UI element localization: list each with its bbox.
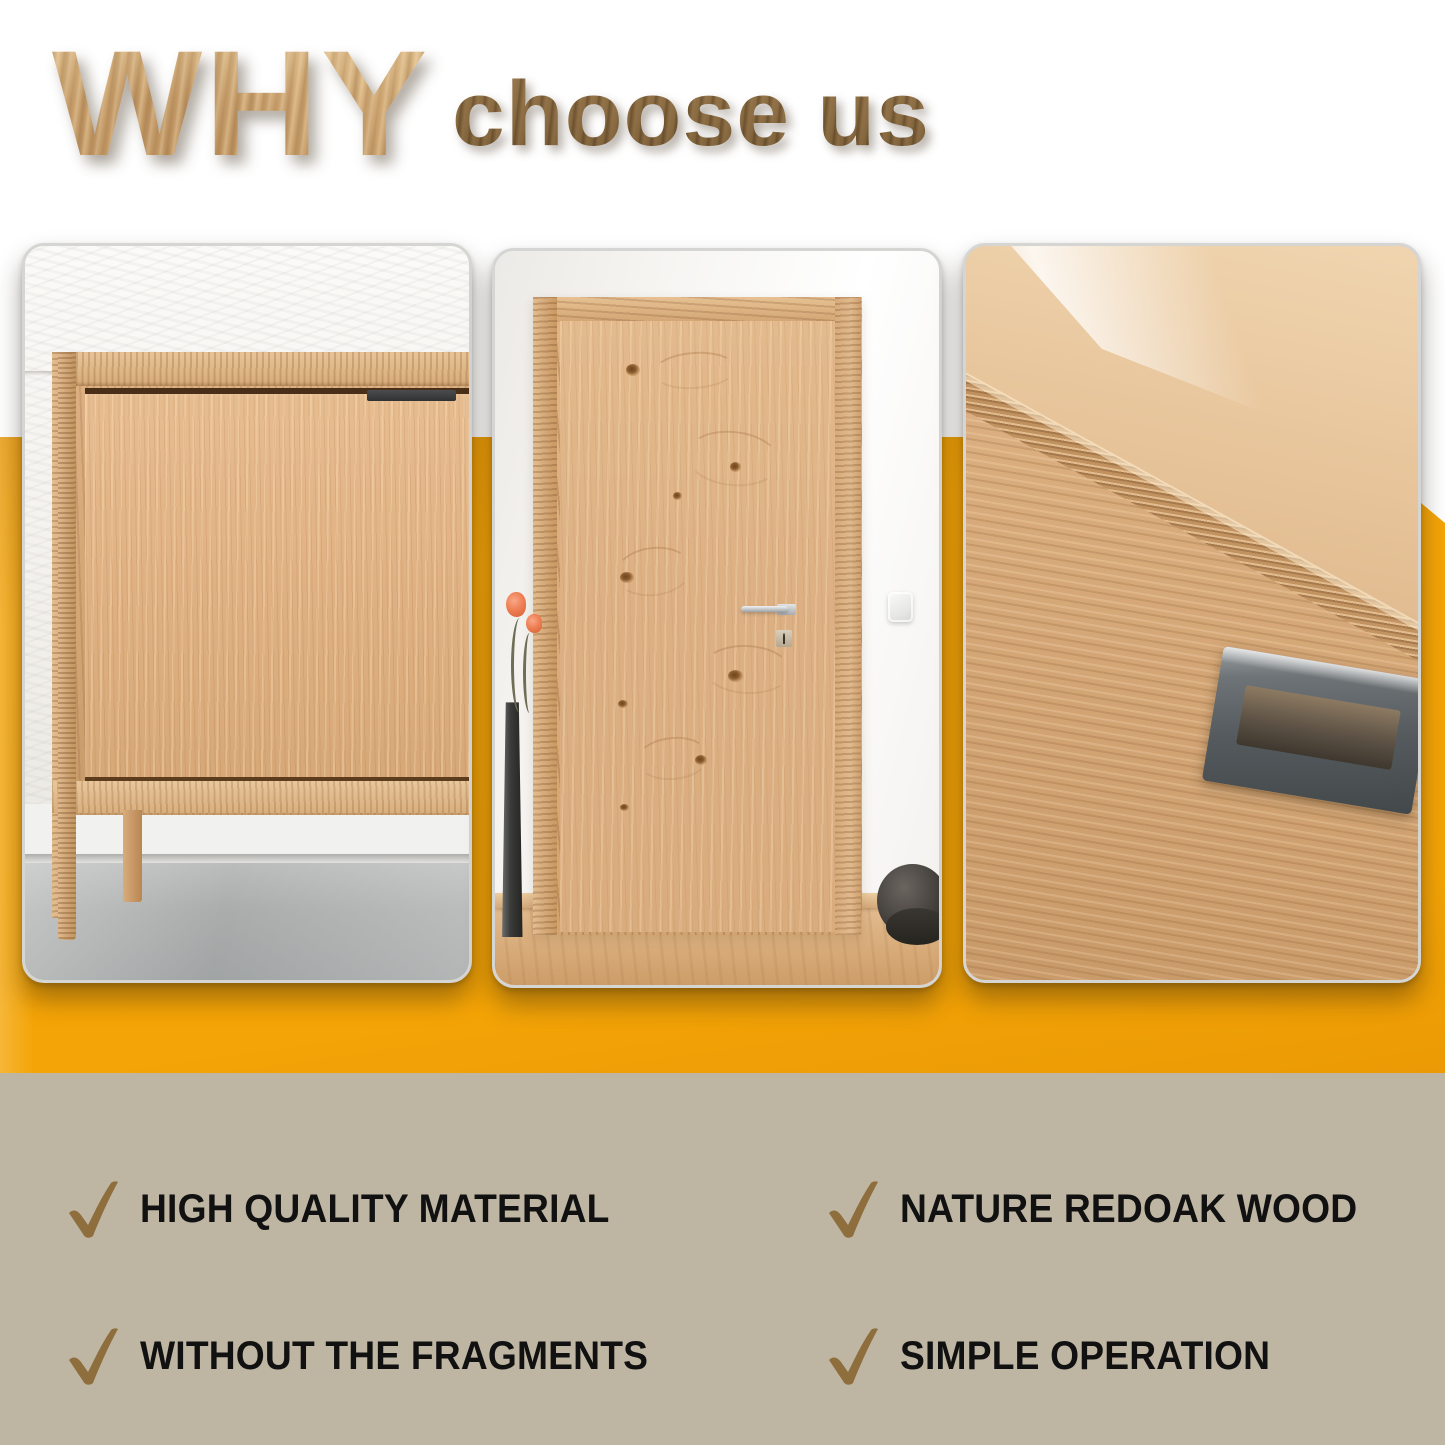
feature-list: HIGH QUALITY MATERIAL NATURE REDOAK WOOD… [0,1073,1445,1445]
light-switch [888,592,913,623]
oak-sideboard-photo [25,246,469,980]
door-casing-head [533,297,862,323]
door-lever-handle [741,606,788,613]
why-choose-us-poster: WHY choose us [0,0,1445,1445]
wood-knot [618,700,628,708]
door-leaf [560,321,835,932]
gallery-card-oak-edge-closeup[interactable] [963,243,1421,983]
feature-item-nature-redoak-wood: NATURE REDOAK WOOD [826,1178,1392,1240]
door-keyhole-escutcheon [776,630,792,648]
gallery-card-oak-door[interactable] [492,248,942,988]
poppy-flower [526,614,542,633]
door-jamb-right [835,297,862,936]
feature-label: NATURE REDOAK WOOD [900,1187,1357,1232]
cabinet-door-panel [85,391,469,780]
feature-item-simple-operation: SIMPLE OPERATION [826,1325,1298,1387]
poppy-flower [506,592,526,617]
cabinet-left-leg [58,352,77,939]
wood-grain-swirl [702,643,793,696]
check-icon [826,1178,882,1240]
feature-item-without-the-fragments: WITHOUT THE FRAGMENTS [66,1325,686,1387]
wood-knot [620,804,629,811]
wood-grain-swirl [652,349,737,391]
cabinet-handle-bar [367,390,456,401]
wood-knot [673,492,682,499]
wood-grain-swirl [684,427,783,491]
feature-label: WITHOUT THE FRAGMENTS [140,1334,648,1379]
floor-wall-joint [25,854,469,863]
gallery-card-oak-sideboard[interactable] [22,243,472,983]
check-icon [66,1178,122,1240]
photo-gallery [0,0,1445,1080]
wood-grain-swirl [635,734,710,783]
wooden-stool-base [886,908,939,945]
wood-grain-swirl [612,543,694,601]
cabinet-bottom-rail [52,781,469,813]
cabinet-middle-leg [123,810,143,902]
check-icon [826,1325,882,1387]
cabinet-top-rail [52,352,469,386]
wood-knot [626,364,640,376]
feature-label: HIGH QUALITY MATERIAL [140,1187,610,1232]
floor-reflection [25,863,469,980]
feature-item-high-quality-material: HIGH QUALITY MATERIAL [66,1178,645,1240]
oak-interior-door-photo [495,251,939,985]
oak-edge-handle-closeup-photo [966,246,1418,980]
check-icon [66,1325,122,1387]
poppy-stem [523,633,536,714]
feature-label: SIMPLE OPERATION [900,1334,1270,1379]
